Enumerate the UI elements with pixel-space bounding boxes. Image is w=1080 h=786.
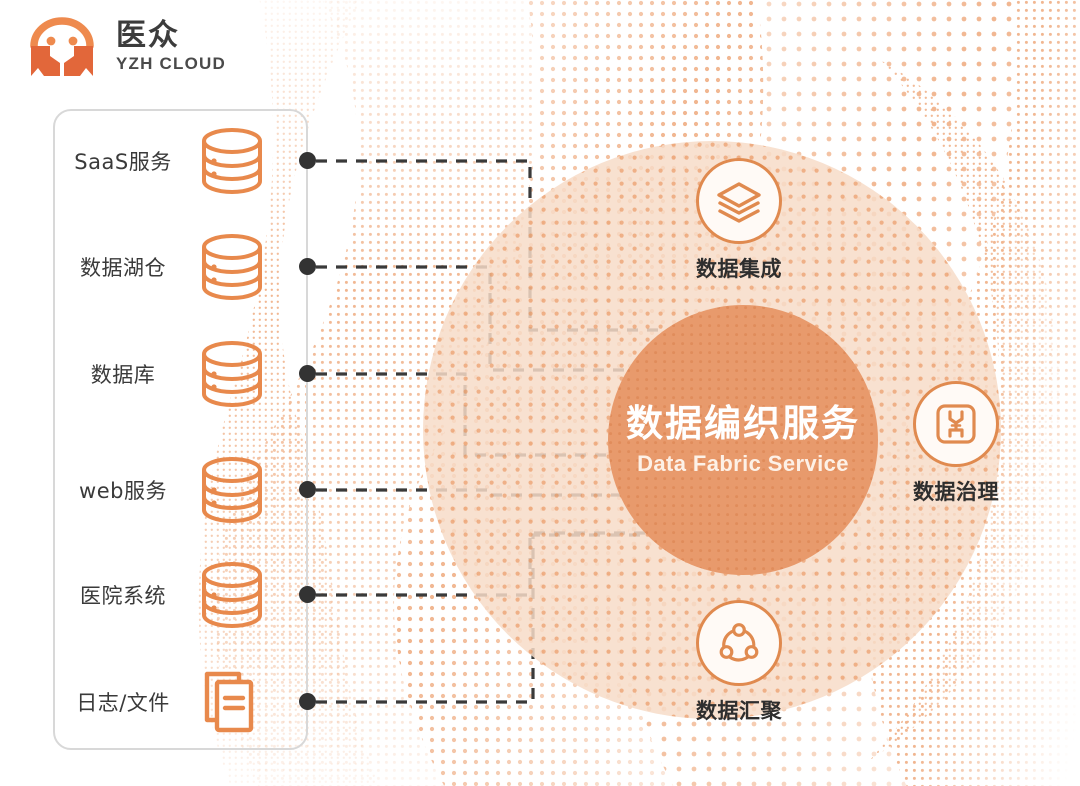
rail-dot-6[interactable] — [299, 693, 316, 710]
source-item-label: 数据库 — [53, 359, 193, 389]
diagram-canvas: 医众 YZH CLOUD 数据编织服务 Data Fabric Service — [0, 0, 1080, 786]
source-item-label: SaaS服务 — [53, 146, 193, 176]
source-item-hospital-system[interactable]: 医院系统 — [53, 556, 308, 634]
rail-dot-2[interactable] — [299, 258, 316, 275]
rail-dot-3[interactable] — [299, 365, 316, 382]
wrench-square-icon — [931, 399, 981, 449]
capability-label: 数据治理 — [913, 476, 999, 506]
database-cylinder-icon — [195, 338, 269, 410]
database-cylinder-icon — [195, 125, 269, 197]
capability-node-data-aggregation[interactable]: 数据汇聚 — [664, 600, 814, 725]
documents-stack-icon — [195, 666, 269, 738]
capability-badge — [913, 381, 999, 467]
database-cylinder-icon — [195, 559, 269, 631]
layers-stack-icon — [714, 176, 764, 226]
brand-logo: 医众 YZH CLOUD — [22, 16, 226, 78]
capability-badge — [696, 600, 782, 686]
capability-badge — [696, 158, 782, 244]
rail-dot-4[interactable] — [299, 481, 316, 498]
capability-label: 数据汇聚 — [696, 695, 782, 725]
database-cylinder-icon — [195, 231, 269, 303]
brand-name-cn: 医众 — [116, 20, 226, 52]
hub-title-en: Data Fabric Service — [637, 451, 849, 477]
source-item-label: 医院系统 — [53, 580, 193, 610]
hub-title-cn: 数据编织服务 — [626, 403, 860, 446]
brand-name-en: YZH CLOUD — [116, 54, 226, 74]
rail-dot-1[interactable] — [299, 152, 316, 169]
yzh-mask-logo-icon — [22, 16, 102, 78]
source-item-data-lake[interactable]: 数据湖仓 — [53, 228, 308, 306]
source-item-web-service[interactable]: web服务 — [53, 451, 308, 529]
source-item-label: 数据湖仓 — [53, 252, 193, 282]
capability-node-data-integration[interactable]: 数据集成 — [664, 158, 814, 283]
data-source-panel — [53, 109, 308, 750]
source-item-database[interactable]: 数据库 — [53, 335, 308, 413]
source-item-saas[interactable]: SaaS服务 — [53, 122, 308, 200]
source-item-label: web服务 — [53, 475, 193, 505]
source-item-label: 日志/文件 — [53, 687, 193, 717]
database-cylinder-icon — [195, 454, 269, 526]
capability-node-data-governance[interactable]: 数据治理 — [881, 381, 1031, 506]
capability-label: 数据集成 — [696, 253, 782, 283]
network-nodes-icon — [714, 618, 764, 668]
rail-dot-5[interactable] — [299, 586, 316, 603]
source-item-logs-files[interactable]: 日志/文件 — [53, 663, 308, 741]
